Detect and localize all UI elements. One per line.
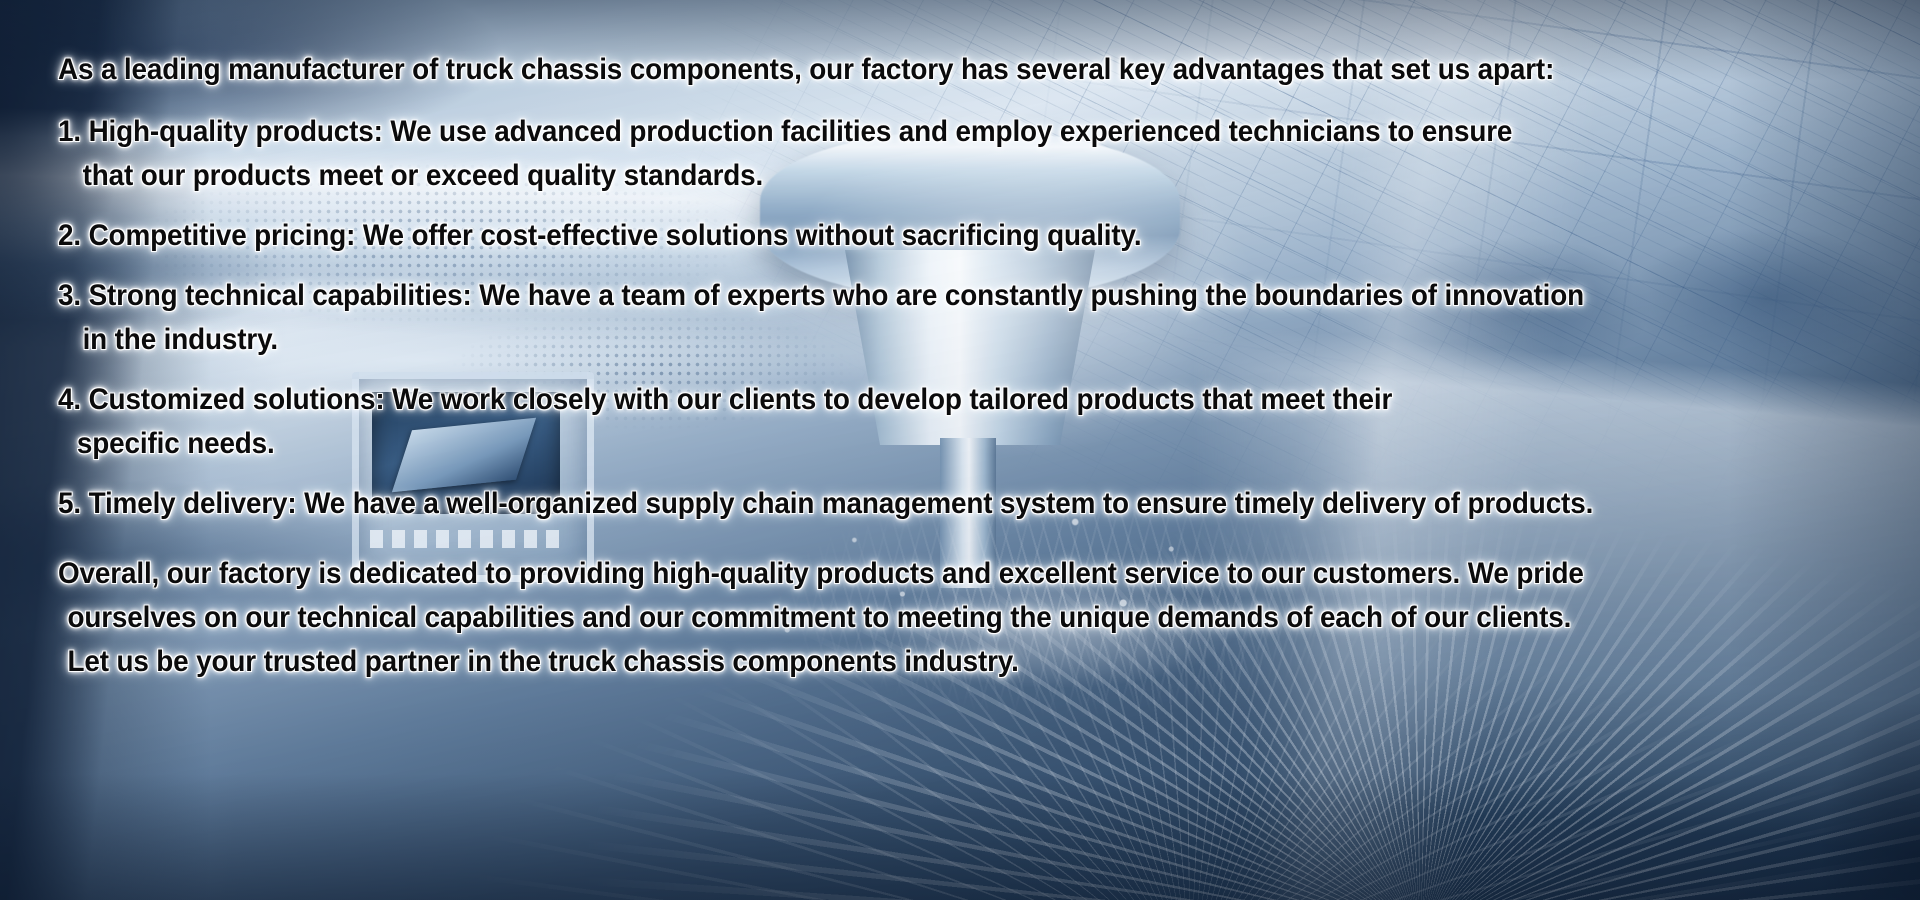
- spacer-after-intro: [58, 92, 1890, 110]
- advantage-3-line-2: in the industry.: [58, 318, 1789, 362]
- advantage-item-1: 1. High-quality products: We use advance…: [58, 110, 1890, 198]
- advantage-item-5: 5. Timely delivery: We have a well-organ…: [58, 482, 1890, 526]
- closing-paragraph: Overall, our factory is dedicated to pro…: [58, 552, 1890, 684]
- advantage-4-line-2: specific needs.: [58, 422, 1789, 466]
- spacer-after-advantage-2: [58, 258, 1890, 274]
- advantage-item-2: 2. Competitive pricing: We offer cost-ef…: [58, 214, 1890, 258]
- spacer-after-advantage-4: [58, 466, 1890, 482]
- banner-text-overlay: As a leading manufacturer of truck chass…: [0, 0, 1920, 900]
- advantage-3-line-1: 3. Strong technical capabilities: We hav…: [58, 274, 1789, 318]
- advantage-5-line-1: 5. Timely delivery: We have a well-organ…: [58, 482, 1789, 526]
- closing-line-1: Overall, our factory is dedicated to pro…: [58, 552, 1789, 596]
- advantage-item-3: 3. Strong technical capabilities: We hav…: [58, 274, 1890, 362]
- intro-line: As a leading manufacturer of truck chass…: [58, 48, 1789, 92]
- spacer-after-advantage-1: [58, 198, 1890, 214]
- advantage-2-line-1: 2. Competitive pricing: We offer cost-ef…: [58, 214, 1789, 258]
- advantage-4-line-1: 4. Customized solutions: We work closely…: [58, 378, 1789, 422]
- closing-line-2: ourselves on our technical capabilities …: [58, 596, 1789, 640]
- spacer-before-closing: [58, 526, 1890, 552]
- closing-line-3: Let us be your trusted partner in the tr…: [58, 640, 1789, 684]
- advantage-1-line-2: that our products meet or exceed quality…: [58, 154, 1789, 198]
- promotional-banner: As a leading manufacturer of truck chass…: [0, 0, 1920, 900]
- advantage-1-line-1: 1. High-quality products: We use advance…: [58, 110, 1789, 154]
- spacer-after-advantage-3: [58, 362, 1890, 378]
- advantage-item-4: 4. Customized solutions: We work closely…: [58, 378, 1890, 466]
